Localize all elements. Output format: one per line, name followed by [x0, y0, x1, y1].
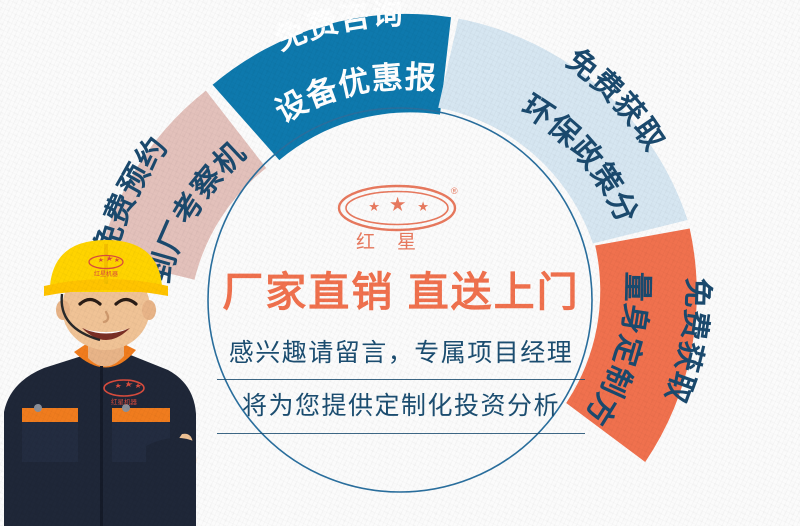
divider-2: [217, 433, 585, 434]
promo-banner: 免费预约 到厂考察机器 免费咨询 设备优惠报价 免费获取 环保政策分析: [0, 0, 800, 526]
subline-1: 感兴趣请留言，专属项目经理: [196, 333, 606, 373]
page-title: 厂家直销 直送上门: [196, 270, 606, 315]
pocket-flap-right: [112, 408, 170, 422]
jacket-seam: [100, 366, 103, 526]
helmet-badge-text: 红星机器: [94, 270, 118, 278]
helmet-ridge: [104, 244, 108, 284]
subtext-block: 感兴趣请留言，专属项目经理 将为您提供定制化投资分析: [196, 333, 606, 434]
registered-mark: ®: [451, 186, 458, 196]
badge-text: 红星机器: [111, 397, 138, 406]
divider-1: [217, 379, 585, 380]
subline-2: 将为您提供定制化投资分析: [196, 386, 606, 426]
worker-photo: 红星机器 红星机器: [0, 236, 226, 526]
logo-stars: [369, 197, 428, 211]
ear-right: [142, 300, 156, 320]
logo-brand-text: 红星: [356, 231, 438, 253]
pocket-left: [22, 422, 78, 462]
sleeve-right: [146, 438, 196, 526]
brand-logo: ® 红星: [331, 182, 471, 256]
button-left: [34, 404, 42, 412]
center-content: ® 红星 厂家直销 直送上门 感兴趣请留言，专属项目经理 将为您提供定制化投资分…: [196, 176, 606, 476]
pocket-flap-left: [22, 408, 78, 422]
